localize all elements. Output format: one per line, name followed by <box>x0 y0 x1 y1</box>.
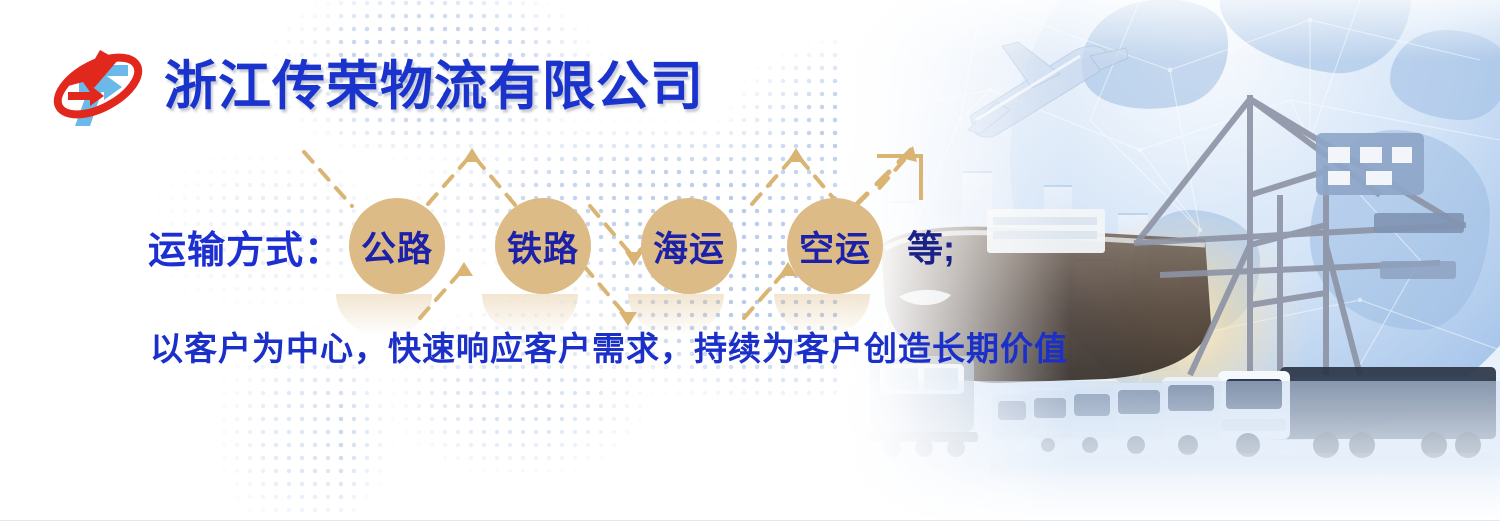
company-tagline: 以客户为中心，快速响应客户需求，持续为客户创造长期价值 <box>150 322 1068 370</box>
brand: 浙江传荣物流有限公司 <box>46 34 704 138</box>
mode-label-rail: 铁路 <box>507 221 579 272</box>
mode-circle-road[interactable]: 公路 <box>349 198 445 294</box>
mode-label-road: 公路 <box>361 221 433 272</box>
company-title: 浙江传荣物流有限公司 <box>164 60 704 113</box>
logistics-banner: 浙江传荣物流有限公司 <box>0 0 1500 521</box>
transport-modes-row: 运输方式： 公路 铁路 海运 空运 等; <box>148 198 955 294</box>
mode-label-sea: 海运 <box>653 221 725 272</box>
mode-circle-rail[interactable]: 铁路 <box>495 198 591 294</box>
mode-circle-air[interactable]: 空运 <box>787 198 883 294</box>
mode-label-air: 空运 <box>799 221 871 272</box>
orbit-arrow-logo-icon <box>46 34 150 138</box>
transport-modes-tail: 等; <box>907 220 955 272</box>
transport-modes-label: 运输方式： <box>148 219 343 274</box>
mode-circle-sea[interactable]: 海运 <box>641 198 737 294</box>
